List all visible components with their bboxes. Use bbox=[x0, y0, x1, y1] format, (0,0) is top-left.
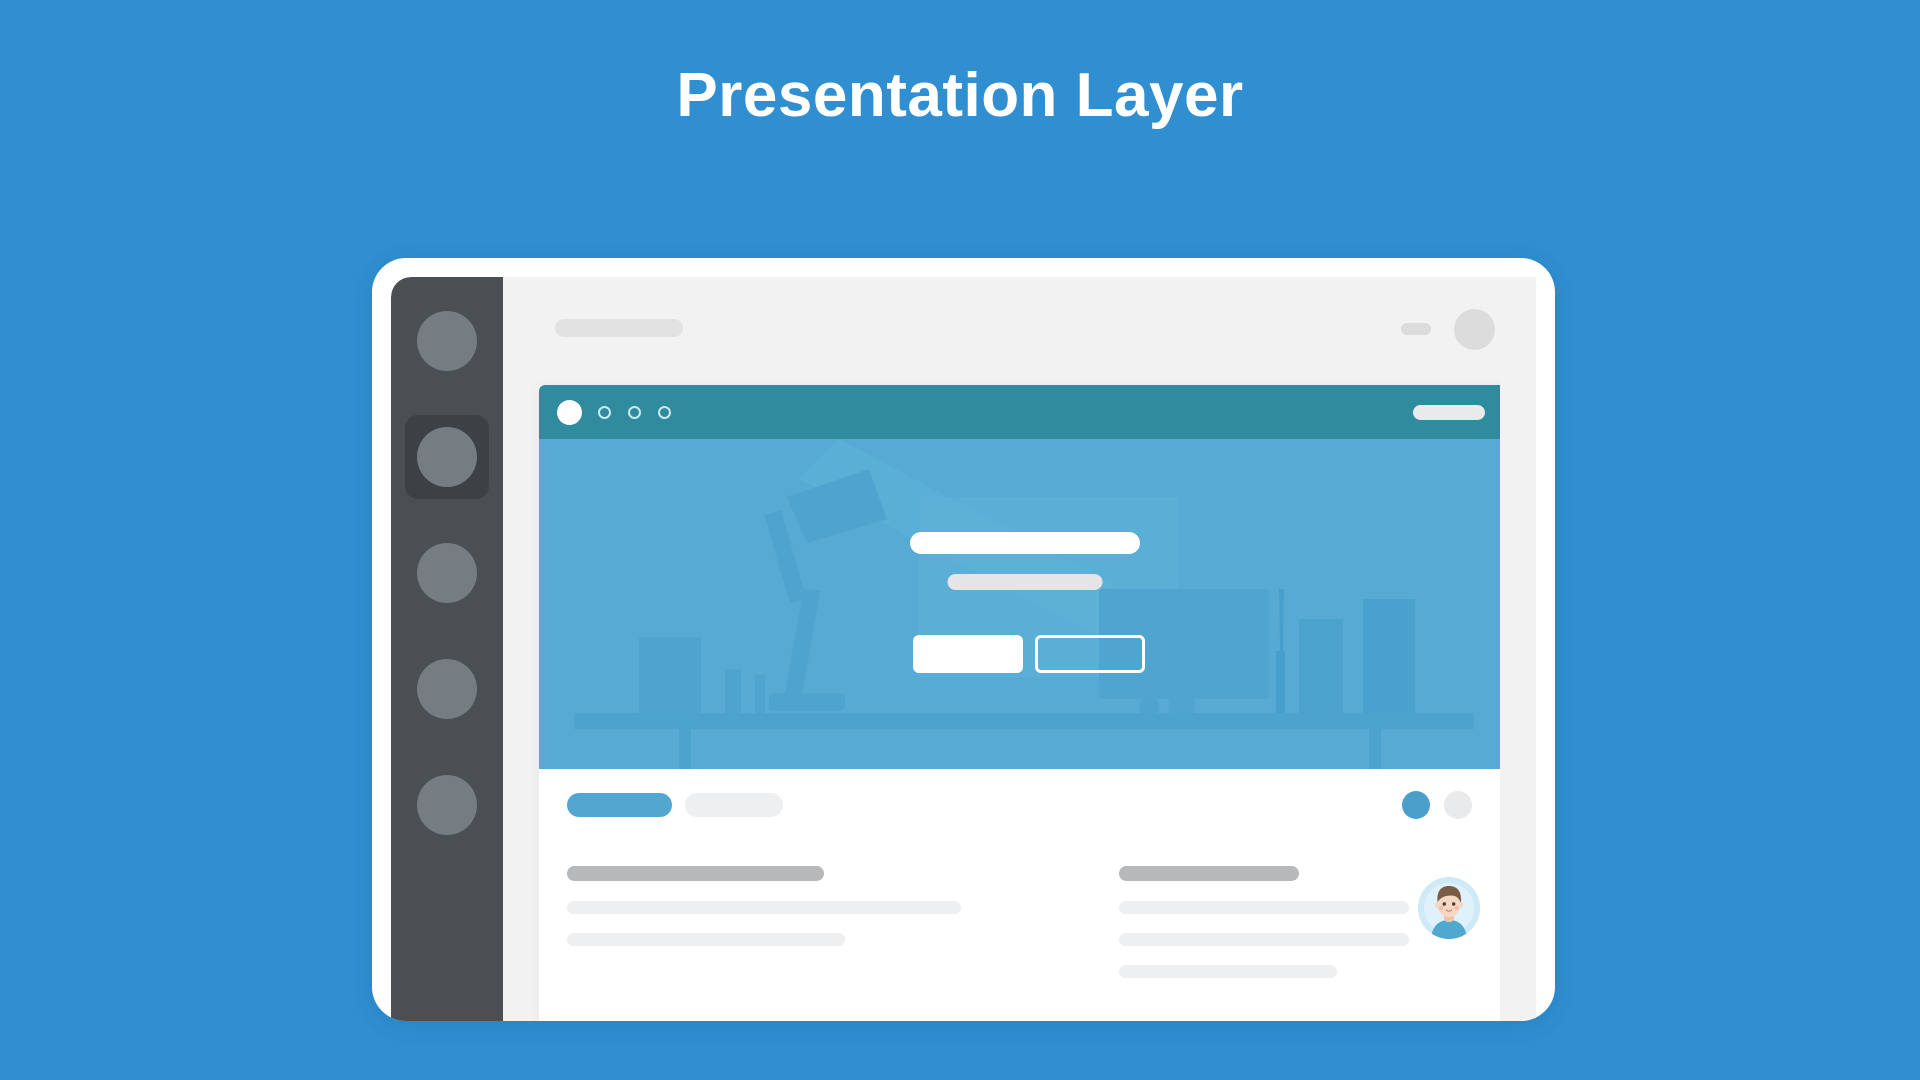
address-bar[interactable] bbox=[1413, 405, 1485, 420]
sidebar-item-5-icon bbox=[417, 775, 477, 835]
content-column-right bbox=[1119, 866, 1409, 997]
sidebar-item-1-icon bbox=[417, 311, 477, 371]
screen-right-edge bbox=[1500, 277, 1536, 1021]
hero-secondary-button[interactable] bbox=[1035, 635, 1145, 673]
left-column-heading bbox=[567, 866, 824, 881]
hero-section bbox=[539, 439, 1510, 769]
hero-subheadline-placeholder bbox=[947, 574, 1102, 590]
carousel-dot-active[interactable] bbox=[1402, 791, 1430, 819]
browser-tab-active-icon[interactable] bbox=[557, 400, 582, 425]
sidebar-item-3[interactable] bbox=[405, 531, 489, 615]
tablet-screen-area bbox=[391, 277, 1536, 1021]
content-section bbox=[539, 769, 1510, 1021]
os-title-placeholder bbox=[555, 319, 683, 337]
content-tab-active[interactable] bbox=[567, 793, 672, 817]
right-column-line-2 bbox=[1119, 933, 1409, 946]
avatar-face-icon bbox=[1418, 877, 1480, 939]
content-column-left bbox=[567, 866, 995, 965]
browser-tab-icon-2[interactable] bbox=[628, 406, 641, 419]
app-sidebar bbox=[391, 277, 503, 1021]
hero-copy-block bbox=[539, 439, 1510, 769]
user-avatar[interactable] bbox=[1418, 877, 1480, 939]
browser-tab-icon-1[interactable] bbox=[598, 406, 611, 419]
right-column-line-3 bbox=[1119, 965, 1337, 978]
sidebar-item-2[interactable] bbox=[405, 415, 489, 499]
right-column-line-1 bbox=[1119, 901, 1409, 914]
browser-window bbox=[539, 385, 1510, 1021]
sidebar-item-1[interactable] bbox=[405, 299, 489, 383]
left-column-line-1 bbox=[567, 901, 961, 914]
os-titlebar bbox=[503, 277, 1536, 385]
left-column-line-2 bbox=[567, 933, 845, 946]
hero-headline-placeholder bbox=[910, 532, 1140, 554]
device-screen bbox=[503, 277, 1536, 1021]
sidebar-item-4-icon bbox=[417, 659, 477, 719]
right-column-heading bbox=[1119, 866, 1299, 881]
tablet-device bbox=[372, 258, 1555, 1021]
sidebar-item-4[interactable] bbox=[405, 647, 489, 731]
browser-tab-icon-3[interactable] bbox=[658, 406, 671, 419]
hero-primary-button[interactable] bbox=[913, 635, 1023, 673]
sidebar-item-2-icon bbox=[417, 427, 477, 487]
page-title: Presentation Layer bbox=[0, 62, 1920, 130]
browser-toolbar bbox=[539, 385, 1510, 439]
profile-avatar-icon[interactable] bbox=[1454, 309, 1495, 350]
sidebar-item-3-icon bbox=[417, 543, 477, 603]
sidebar-item-5[interactable] bbox=[405, 763, 489, 847]
content-tab-inactive[interactable] bbox=[685, 793, 783, 817]
carousel-dot-inactive[interactable] bbox=[1444, 791, 1472, 819]
minimize-icon[interactable] bbox=[1401, 323, 1431, 335]
